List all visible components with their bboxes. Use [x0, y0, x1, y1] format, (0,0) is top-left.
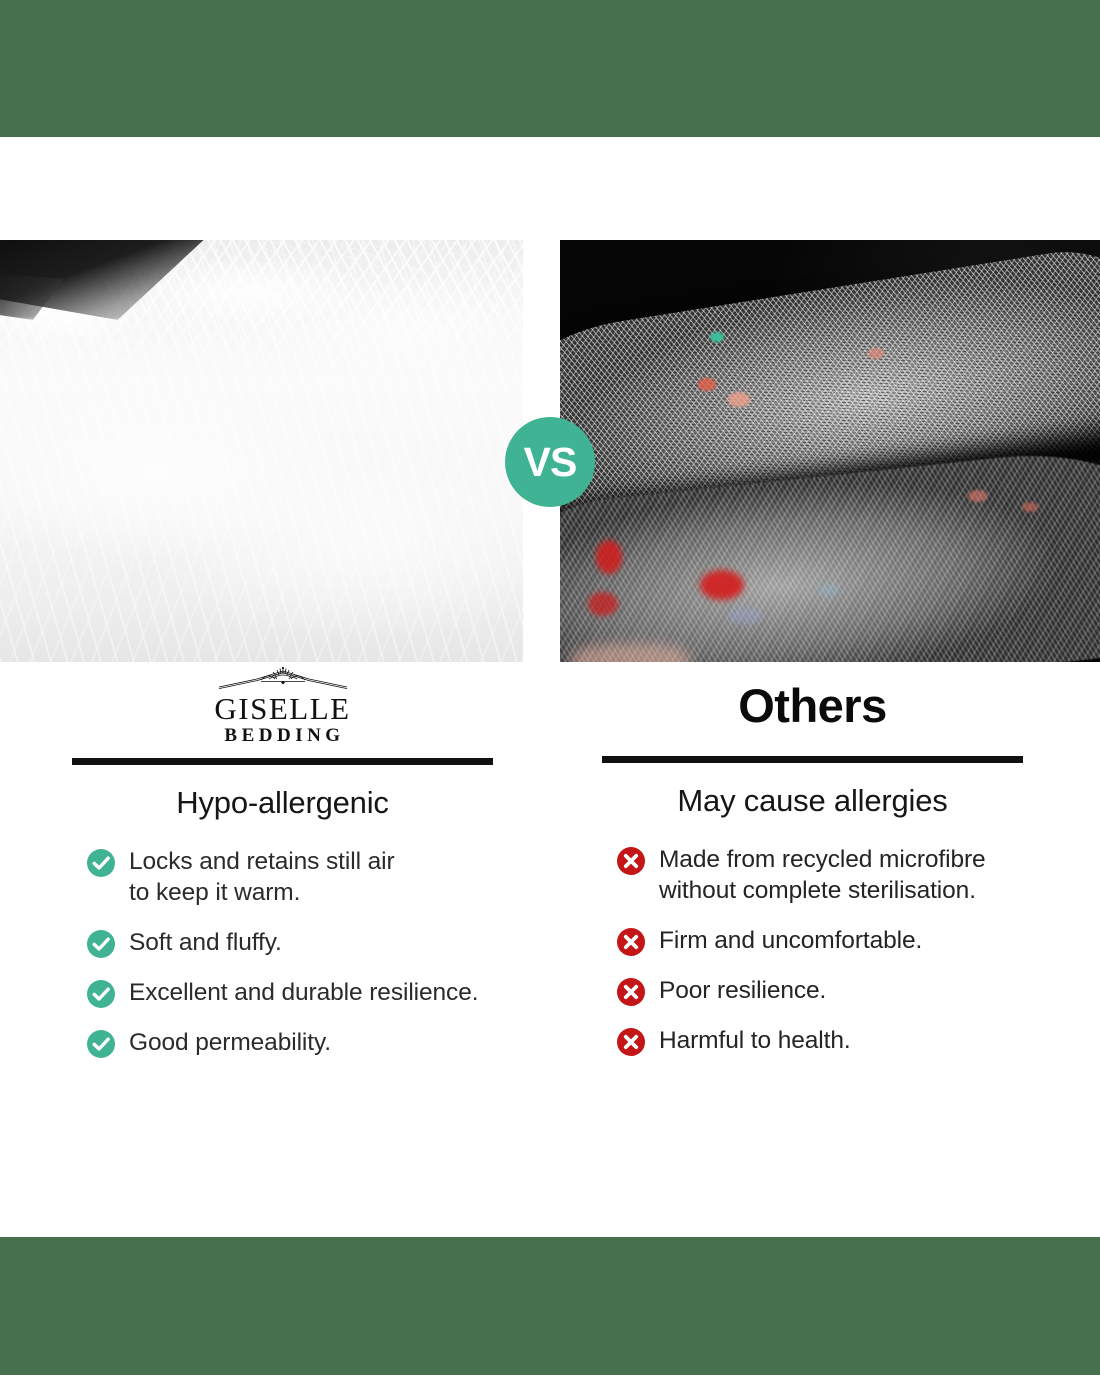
- left-product-photo: [0, 240, 523, 662]
- brand-sub-name: BEDDING: [220, 724, 344, 748]
- list-item-label: Firm and uncomfortable.: [659, 925, 922, 956]
- contaminant-speck: [1022, 502, 1038, 512]
- list-item: Poor resilience.: [616, 975, 1023, 1007]
- contaminant-speck: [588, 592, 618, 616]
- list-item: Harmful to health.: [616, 1025, 1023, 1057]
- list-item-label: Harmful to health.: [659, 1025, 851, 1056]
- contaminant-speck: [570, 644, 690, 662]
- contaminant-speck: [596, 540, 622, 574]
- crown-ornament-icon: [217, 666, 349, 692]
- list-item: Excellent and durable resilience.: [86, 977, 493, 1009]
- check-circle-icon: [86, 979, 116, 1009]
- top-green-band: [0, 0, 1100, 137]
- vs-badge-icon: VS: [505, 417, 595, 507]
- list-item-label: Locks and retains still air to keep it w…: [129, 846, 395, 909]
- cross-circle-icon: [616, 1027, 646, 1057]
- others-header: Others: [602, 662, 1023, 748]
- cross-circle-icon: [616, 927, 646, 957]
- benefit-list: Locks and retains still air to keep it w…: [72, 846, 493, 1059]
- contaminant-speck: [728, 608, 762, 624]
- check-circle-icon: [86, 848, 116, 878]
- giselle-column: GISELLE BEDDING Hypo-allergenic Locks an…: [72, 662, 493, 1059]
- left-column-rule: [72, 758, 493, 765]
- right-column-rule: [602, 756, 1023, 763]
- list-item-label: Excellent and durable resilience.: [129, 977, 478, 1008]
- bottom-green-band: [0, 1237, 1100, 1375]
- recycled-fibre-photo: [560, 240, 1100, 662]
- right-product-photo: [560, 240, 1100, 662]
- comparison-columns: GISELLE BEDDING Hypo-allergenic Locks an…: [0, 662, 1100, 1237]
- list-item-label: Soft and fluffy.: [129, 927, 282, 958]
- vs-badge-label: VS: [524, 442, 577, 483]
- contaminant-speck: [818, 584, 840, 596]
- cross-circle-icon: [616, 977, 646, 1007]
- check-circle-icon: [86, 929, 116, 959]
- contaminant-speck: [698, 378, 716, 391]
- contaminant-speck: [868, 348, 884, 359]
- others-column: Others May cause allergies Made from rec…: [602, 662, 1023, 1057]
- contaminant-speck: [700, 570, 744, 600]
- left-column-subtitle: Hypo-allergenic: [72, 787, 493, 818]
- list-item: Made from recycled microfibre without co…: [616, 844, 1023, 907]
- list-item: Firm and uncomfortable.: [616, 925, 1023, 957]
- brand-name: GISELLE: [214, 693, 350, 724]
- list-item-label: Poor resilience.: [659, 975, 826, 1006]
- list-item-label: Good permeability.: [129, 1027, 331, 1058]
- giselle-brand-logo: GISELLE BEDDING: [72, 662, 493, 750]
- check-circle-icon: [86, 1029, 116, 1059]
- drawback-list: Made from recycled microfibre without co…: [602, 844, 1023, 1057]
- right-column-subtitle: May cause allergies: [602, 785, 1023, 816]
- list-item: Good permeability.: [86, 1027, 493, 1059]
- list-item: Soft and fluffy.: [86, 927, 493, 959]
- contaminant-speck: [728, 392, 750, 407]
- list-item-label: Made from recycled microfibre without co…: [659, 844, 986, 907]
- others-title: Others: [738, 682, 887, 729]
- cross-circle-icon: [616, 846, 646, 876]
- list-item: Locks and retains still air to keep it w…: [86, 846, 493, 909]
- contaminant-speck: [968, 490, 988, 502]
- contaminant-speck: [710, 332, 724, 342]
